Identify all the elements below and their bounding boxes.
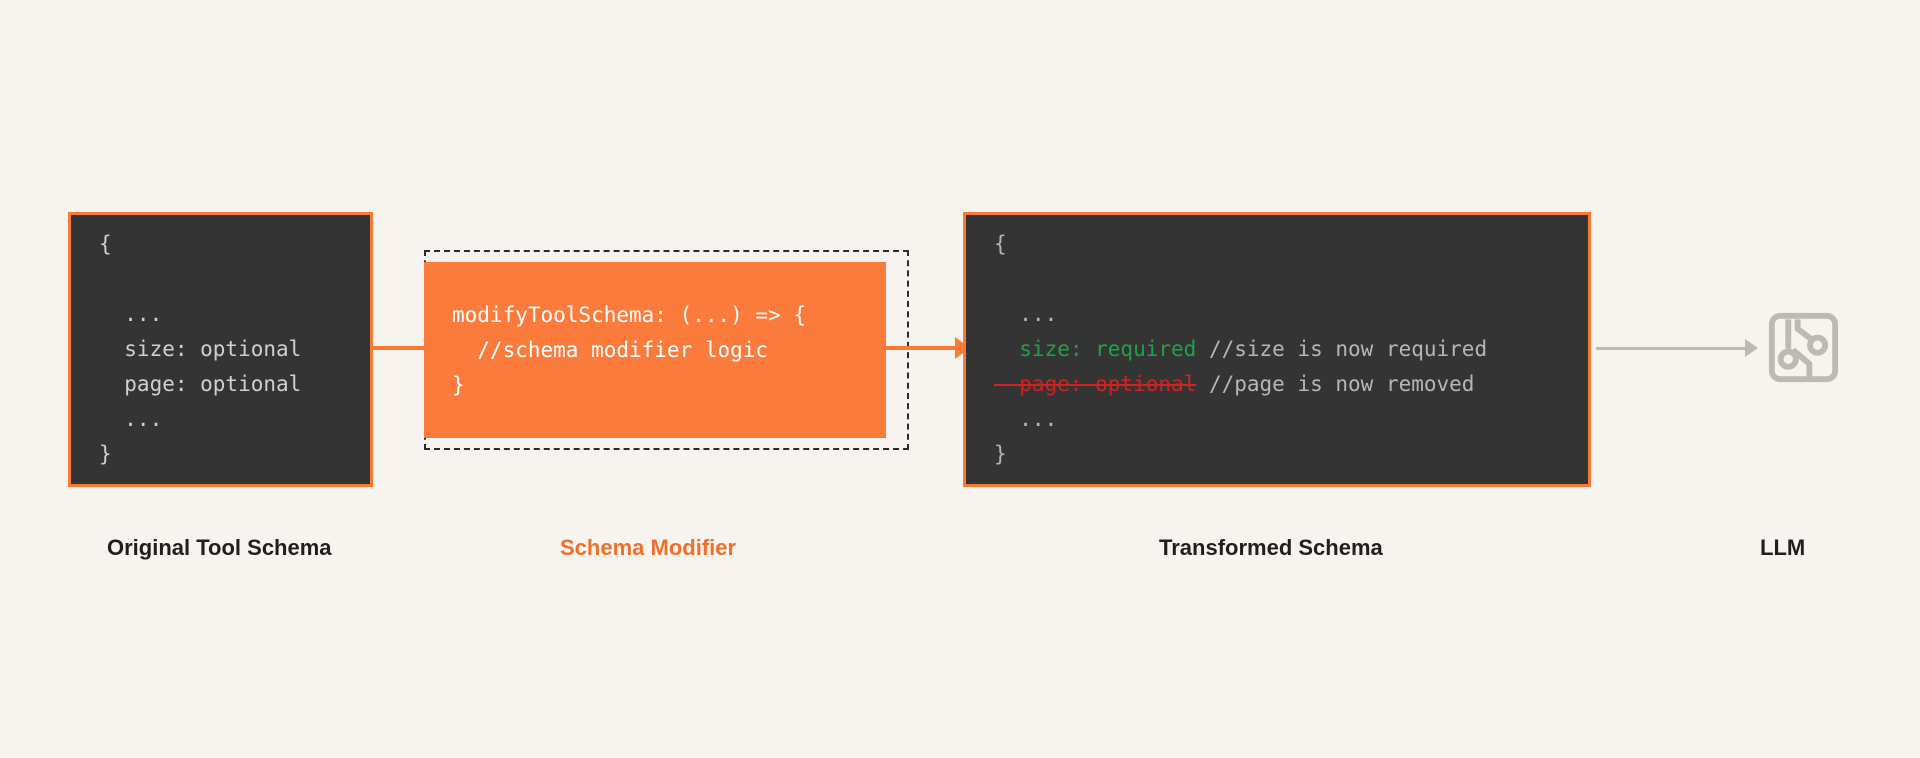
code-size-comment: //size is now required: [1196, 337, 1487, 361]
caption-original-tool-schema: Original Tool Schema: [107, 535, 332, 561]
code-page-removed: page: optional: [994, 372, 1196, 396]
transformed-schema-code: { ... size: required //size is now requi…: [966, 227, 1487, 472]
code-line-close: }: [994, 442, 1007, 466]
caption-transformed-schema: Transformed Schema: [1159, 535, 1383, 561]
schema-modifier-diagram: { ... size: optional page: optional ... …: [0, 0, 1920, 758]
code-line-ellipsis-bottom: ...: [994, 407, 1057, 431]
caption-llm: LLM: [1760, 535, 1805, 561]
code-page-comment: //page is now removed: [1196, 372, 1474, 396]
circuit-chip-icon: [1766, 310, 1841, 385]
connector-llm-arrowhead-icon: [1745, 339, 1758, 357]
code-line-ellipsis-top: ...: [994, 302, 1057, 326]
transformed-schema-card: { ... size: required //size is now requi…: [963, 212, 1591, 487]
code-line-open: {: [994, 232, 1007, 256]
schema-modifier-box: modifyToolSchema: (...) => { //schema mo…: [424, 262, 886, 438]
caption-schema-modifier: Schema Modifier: [560, 535, 736, 561]
original-tool-schema-card: { ... size: optional page: optional ... …: [68, 212, 373, 487]
connector-transformed-to-llm: [1596, 347, 1756, 350]
schema-modifier-code: modifyToolSchema: (...) => { //schema mo…: [424, 298, 886, 403]
original-schema-code: { ... size: optional page: optional ... …: [71, 227, 301, 472]
code-size-required: size: required: [994, 337, 1196, 361]
connector-original-to-modifier: [373, 346, 428, 350]
